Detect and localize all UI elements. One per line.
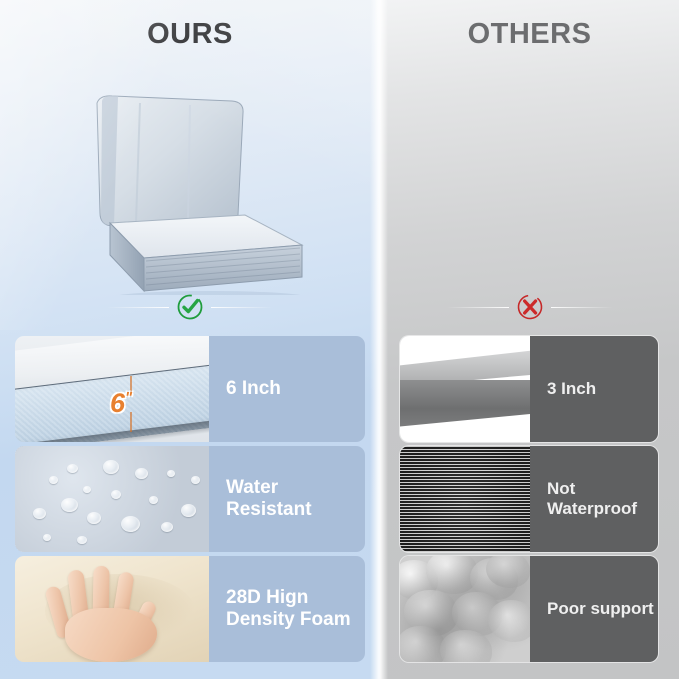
feature-card-ours-2: Water Resistant xyxy=(15,446,365,552)
water-droplet xyxy=(135,468,148,479)
water-droplet xyxy=(49,476,58,484)
feature-label-ours-2: Water Resistant xyxy=(226,477,365,522)
feature-label-panel-others-3: Poor support xyxy=(530,556,658,662)
water-droplet xyxy=(121,516,140,532)
hero-image-ours xyxy=(40,55,340,295)
panel-ours: OURS 6" 6 Inch xyxy=(0,0,380,679)
feature-image-density-foam xyxy=(15,556,209,662)
comparison-infographic: OURS 6" 6 Inch xyxy=(0,0,679,679)
panel-others: OTHERS 3 Inch Not Waterproof xyxy=(380,0,679,679)
feature-label-panel-ours-1: 6 Inch xyxy=(209,336,365,442)
feature-label-ours-3: 28D Hign Density Foam xyxy=(226,587,365,632)
water-droplet xyxy=(77,536,87,544)
feature-label-panel-others-2: Not Waterproof xyxy=(530,446,658,552)
divider-line-left xyxy=(107,307,169,308)
water-droplet xyxy=(61,498,78,512)
feature-image-water-resistant xyxy=(15,446,209,552)
thin-cushion-side-face xyxy=(400,380,530,428)
feature-image-three-inch xyxy=(400,336,530,442)
water-droplet xyxy=(87,512,101,524)
red-x-circle-icon xyxy=(515,292,545,322)
feature-label-ours-1: 6 Inch xyxy=(226,378,281,400)
feature-card-ours-3: 28D Hign Density Foam xyxy=(15,556,365,662)
feature-label-panel-ours-2: Water Resistant xyxy=(209,446,365,552)
divider-line-left xyxy=(447,307,509,308)
marker-value: 6 xyxy=(110,388,125,418)
feature-card-ours-1: 6" 6 Inch xyxy=(15,336,365,442)
water-droplet xyxy=(43,534,51,541)
feature-label-panel-ours-3: 28D Hign Density Foam xyxy=(209,556,365,662)
feature-label-others-3: Poor support xyxy=(547,599,654,619)
water-droplet xyxy=(167,470,175,477)
feature-label-others-1: 3 Inch xyxy=(547,379,596,399)
water-droplet xyxy=(67,464,78,473)
water-droplet xyxy=(83,486,91,493)
feature-label-panel-others-1: 3 Inch xyxy=(530,336,658,442)
six-inch-marker: 6" xyxy=(110,388,132,419)
divider-line-right xyxy=(551,307,613,308)
feature-label-others-2: Not Waterproof xyxy=(547,479,658,519)
title-ours: OURS xyxy=(0,18,380,51)
water-droplet xyxy=(149,496,158,504)
green-check-circle-icon xyxy=(175,292,205,322)
feature-card-others-3: Poor support xyxy=(400,556,658,662)
feature-image-poor-support xyxy=(400,556,530,662)
divider-line-right xyxy=(211,307,273,308)
panel-divider xyxy=(370,0,388,679)
palm xyxy=(65,608,157,662)
water-droplet xyxy=(111,490,121,499)
water-droplet xyxy=(181,504,196,517)
fiber-shading xyxy=(400,556,530,662)
feature-card-others-1: 3 Inch xyxy=(400,336,658,442)
feature-image-six-inch: 6" xyxy=(15,336,209,442)
feature-card-others-2: Not Waterproof xyxy=(400,446,658,552)
marker-unit: " xyxy=(125,389,132,406)
badge-row-ours xyxy=(0,290,380,324)
water-droplet xyxy=(33,508,46,519)
title-others: OTHERS xyxy=(380,18,679,51)
water-droplet xyxy=(161,522,173,532)
water-droplet xyxy=(191,476,200,484)
badge-row-others xyxy=(380,290,679,324)
feature-image-not-waterproof xyxy=(400,446,530,552)
water-droplet xyxy=(103,460,119,474)
